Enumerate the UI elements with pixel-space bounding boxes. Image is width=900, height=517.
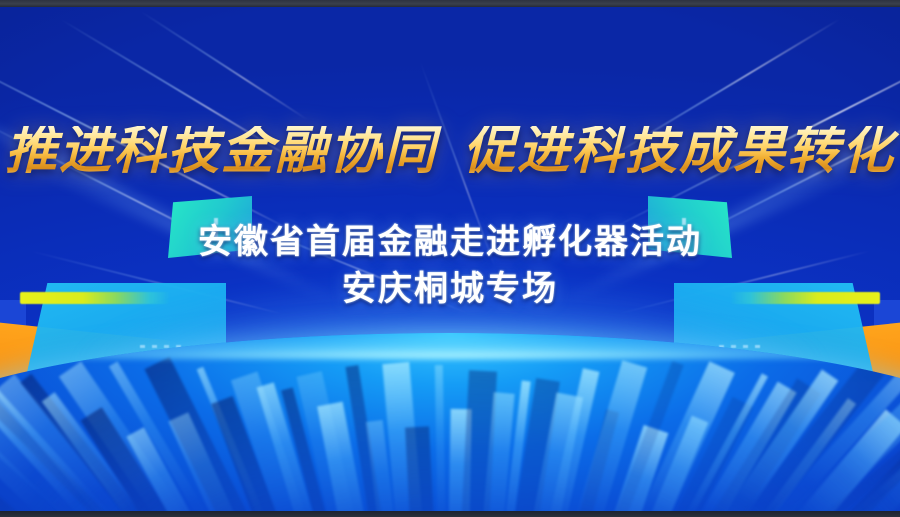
- subtitle-line-1: 安徽省首届金融走进孵化器活动: [198, 223, 702, 261]
- letterbox-bar-bottom: [0, 511, 900, 517]
- letterbox-bar-top: [0, 0, 900, 7]
- subtitle-line-2: 安庆桐城专场: [0, 266, 900, 313]
- stage-floor-streaks: [0, 333, 900, 517]
- event-banner: 推进科技金融协同促进科技成果转化 安徽省首届金融走进孵化器活动 安庆桐城专场: [0, 0, 900, 517]
- main-title-part-1: 推进科技金融协同: [5, 123, 437, 180]
- main-title: 推进科技金融协同促进科技成果转化: [0, 126, 900, 178]
- main-title-part-2: 促进科技成果转化: [463, 123, 895, 180]
- subtitle: 安徽省首届金融走进孵化器活动 安庆桐城专场: [0, 219, 900, 313]
- stage-floor: [0, 333, 900, 517]
- stage-floor-glow: [0, 333, 900, 359]
